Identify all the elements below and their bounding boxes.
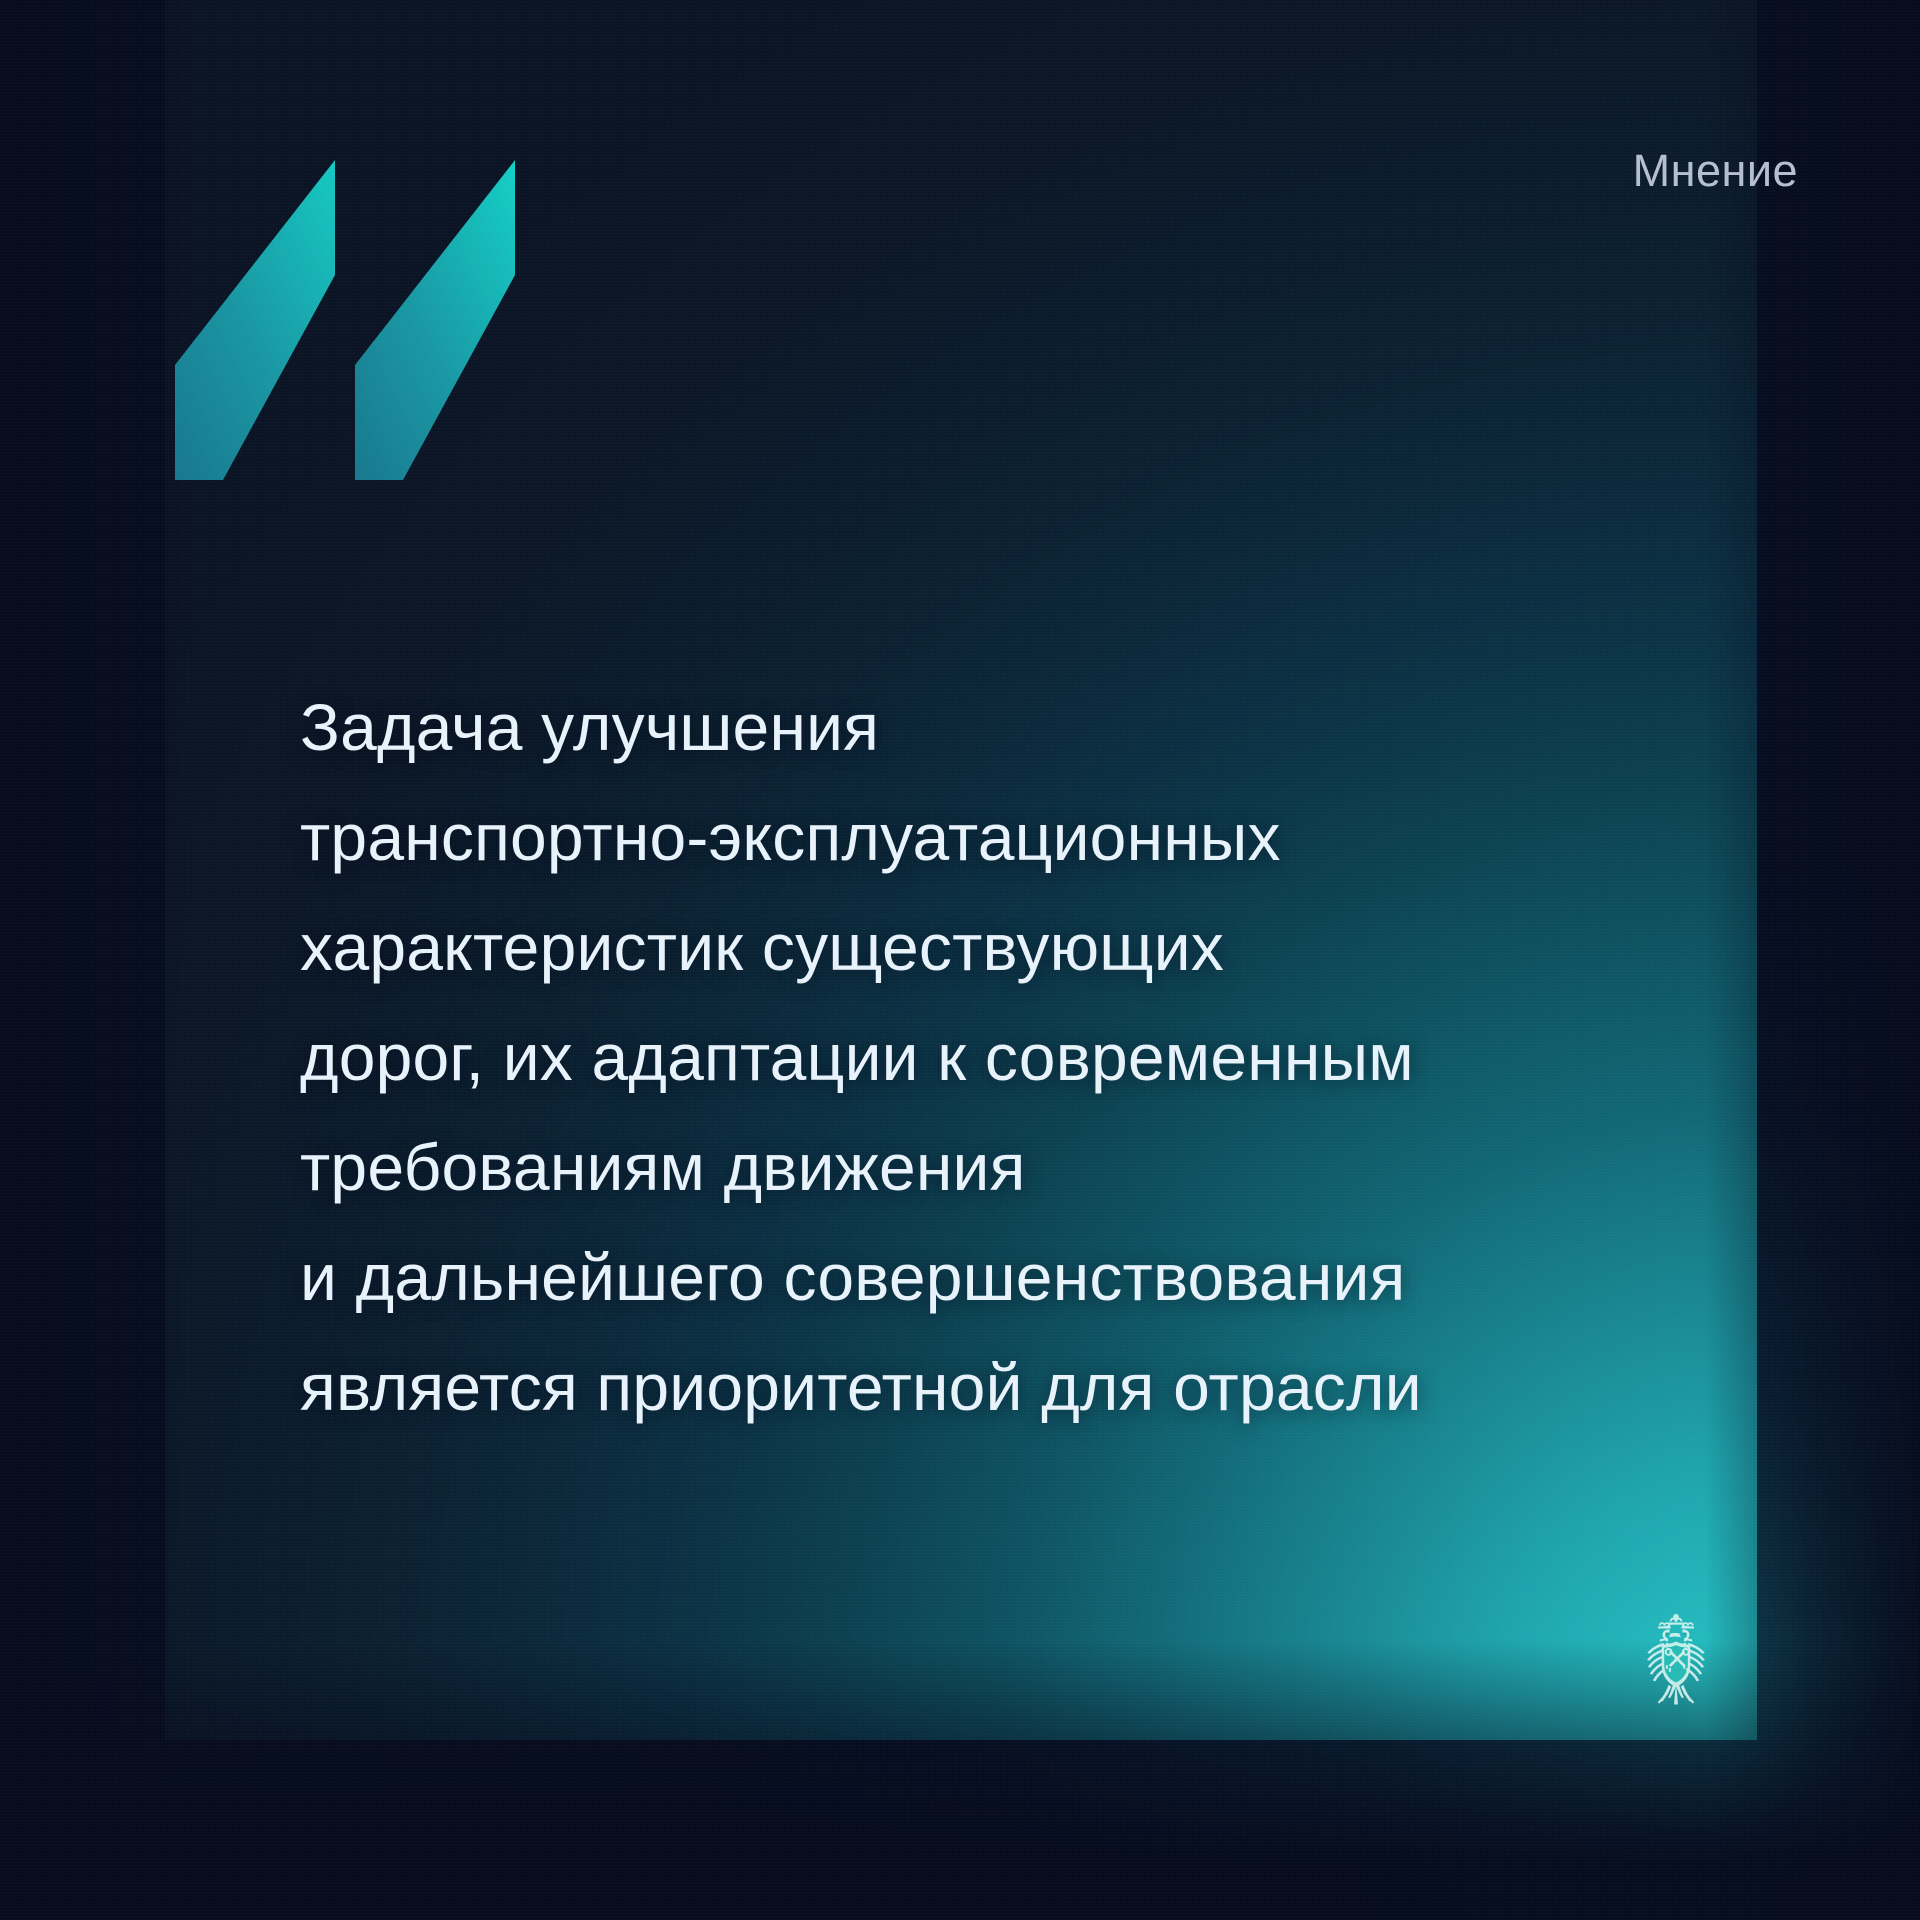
slide-canvas: Мнение Задача улучшения транспортно-эксп… [0,0,1920,1920]
headline-line: характеристик существующих [300,892,1720,1002]
brand-logo-icon [175,160,575,480]
headline-line: требованиям движения [300,1112,1720,1222]
headline-block: Задача улучшения транспортно-эксплуатаци… [300,672,1720,1442]
headline-line: является приоритетной для отрасли [300,1332,1720,1442]
kicker-label: Мнение [1633,146,1798,196]
double-headed-eagle-icon [1622,1612,1730,1716]
headline-line: Задача улучшения [300,672,1720,782]
headline-line: транспортно-эксплуатационных [300,782,1720,892]
headline-line: и дальнейшего совершенствования [300,1222,1720,1332]
headline-line: дорог, их адаптации к современным [300,1002,1720,1112]
